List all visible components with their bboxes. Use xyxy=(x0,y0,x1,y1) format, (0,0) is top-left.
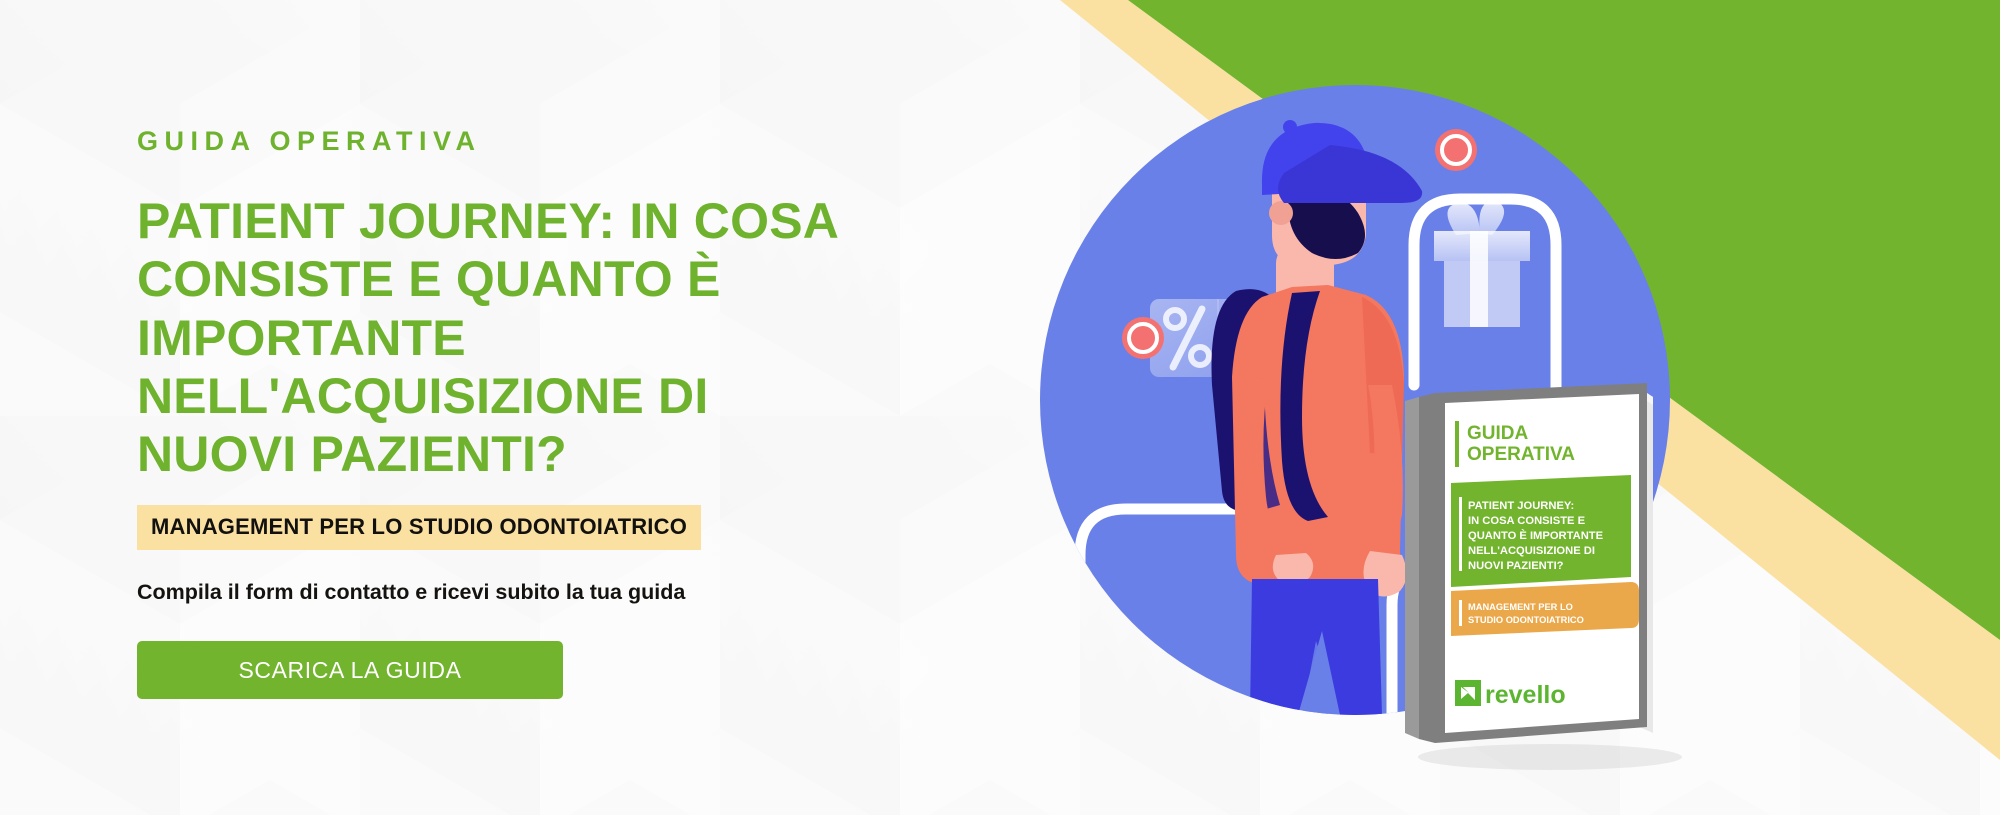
cover-subtitle-line-0: MANAGEMENT PER LO xyxy=(1468,602,1573,612)
download-guide-button[interactable]: SCARICA LA GUIDA xyxy=(137,641,563,699)
cover-kicker-rule xyxy=(1455,421,1459,467)
book-spine-outer xyxy=(1405,397,1419,739)
path-node-icon xyxy=(1435,129,1477,171)
book-shadow xyxy=(1418,744,1682,770)
cover-subtitle-line-1: STUDIO ODONTOIATRICO xyxy=(1468,615,1584,625)
cover-title-line-0: PATIENT JOURNEY: xyxy=(1468,500,1574,512)
cover-kicker-line2: OPERATIVA xyxy=(1467,444,1575,465)
revello-logo: revello xyxy=(1455,680,1566,709)
tagline-text: Compila il form di contatto e ricevi sub… xyxy=(137,580,877,606)
page-title: PATIENT JOURNEY: IN COSA CONSISTE E QUAN… xyxy=(137,192,877,483)
cover-subtitle-rule xyxy=(1459,600,1462,626)
ear xyxy=(1269,201,1293,225)
subtitle-highlight-bar: MANAGEMENT PER LO STUDIO ODONTOIATRICO xyxy=(137,505,701,550)
path-node-icon xyxy=(1122,317,1164,359)
cover-kicker-line1: GUIDA xyxy=(1467,423,1529,444)
cover-title-line-4: NUOVI PAZIENTI? xyxy=(1468,560,1564,572)
eyebrow-label: GUIDA OPERATIVA xyxy=(137,128,877,155)
cover-title-line-2: QUANTO È IMPORTANTE xyxy=(1468,529,1604,542)
banner-copy: GUIDA OPERATIVA PATIENT JOURNEY: IN COSA… xyxy=(137,128,877,699)
cover-title-rule xyxy=(1459,497,1462,571)
cover-title-line-1: IN COSA CONSISTE E xyxy=(1468,515,1586,527)
revello-logo-text: revello xyxy=(1485,681,1566,709)
guide-book-mockup: GUIDA OPERATIVA PATIENT JOURNEY: IN COSA… xyxy=(1405,375,1695,770)
promo-banner: GUIDA OPERATIVA PATIENT JOURNEY: IN COSA… xyxy=(0,0,2000,815)
cover-title-line-3: NELL'ACQUISIZIONE DI xyxy=(1468,545,1595,557)
book-spine-inner xyxy=(1419,393,1435,743)
